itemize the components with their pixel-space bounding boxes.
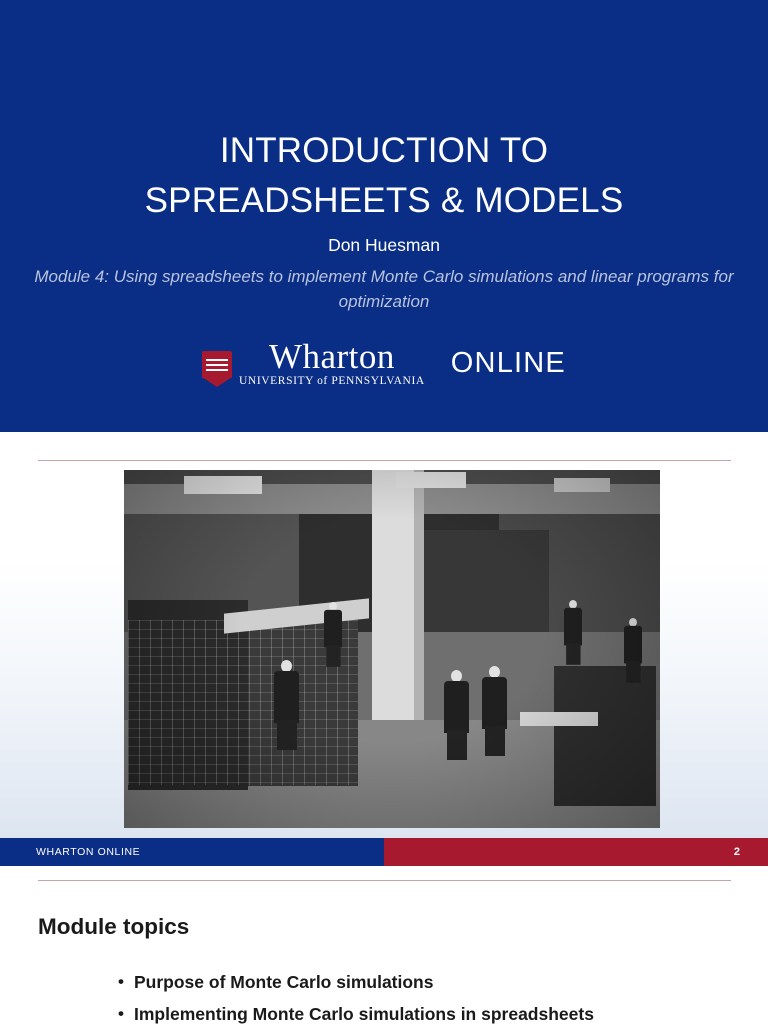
presenter-name: Don Huesman	[0, 235, 768, 256]
list-item-label: Implementing Monte Carlo simulations in …	[134, 998, 594, 1024]
module-subtitle: Module 4: Using spreadsheets to implemen…	[0, 264, 768, 314]
bullet-icon: •	[118, 966, 134, 998]
bullet-icon: •	[118, 998, 134, 1024]
title-banner: INTRODUCTION TO SPREADSHEETS & MODELS Do…	[0, 0, 768, 432]
title-slide-body	[0, 432, 768, 866]
list-item: • Purpose of Monte Carlo simulations	[118, 966, 758, 998]
eniac-photo	[124, 470, 660, 828]
list-item-label: Purpose of Monte Carlo simulations	[134, 966, 433, 998]
title-slide: INTRODUCTION TO SPREADSHEETS & MODELS Do…	[0, 0, 768, 866]
title-line-2: SPREADSHEETS & MODELS	[0, 176, 768, 226]
wharton-wordmark: Wharton	[269, 340, 395, 374]
title-line-1: INTRODUCTION TO	[0, 126, 768, 176]
title-block: INTRODUCTION TO SPREADSHEETS & MODELS Do…	[0, 126, 768, 314]
list-item: • Implementing Monte Carlo simulations i…	[118, 998, 758, 1024]
penn-wordmark: UNIVERSITY of PENNSYLVANIA	[239, 375, 425, 387]
module-topics-slide: Module topics • Purpose of Monte Carlo s…	[0, 866, 768, 1024]
page-title: Module topics	[38, 914, 189, 940]
topics-list: • Purpose of Monte Carlo simulations • I…	[118, 966, 758, 1024]
wharton-shield-icon	[202, 351, 232, 387]
slide-footer: WHARTON ONLINE 2	[0, 838, 768, 866]
footer-brand-label: WHARTON ONLINE	[0, 838, 384, 866]
wharton-online-logo: Wharton UNIVERSITY of PENNSYLVANIA ONLIN…	[0, 340, 768, 387]
horizontal-rule	[38, 880, 731, 881]
wharton-logo: Wharton UNIVERSITY of PENNSYLVANIA	[202, 340, 425, 387]
online-wordmark: ONLINE	[451, 347, 566, 380]
horizontal-rule	[38, 460, 731, 461]
slide-page-number: 2	[384, 838, 768, 866]
